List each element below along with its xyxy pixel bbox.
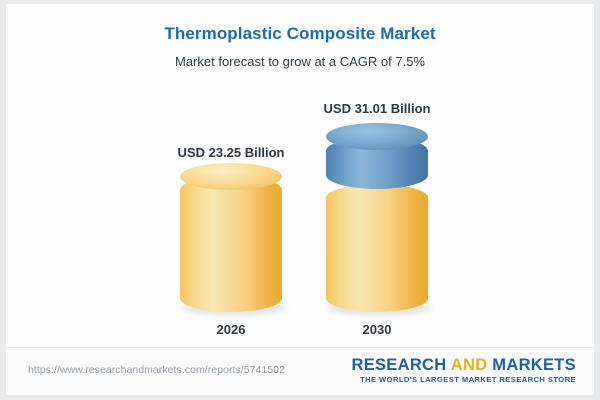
logo-wordmark: RESEARCH AND MARKETS [351, 356, 576, 375]
bar-top-ellipse-2026 [180, 163, 282, 190]
bar-top-ellipse-2030 [326, 123, 428, 150]
chart-card: Thermoplastic Composite Market Market fo… [6, 4, 594, 394]
bar-chart-plot: USD 23.25 Billion 2026 USD 31.01 Billion [6, 4, 594, 347]
bar-value-label-2030: USD 31.01 Billion [267, 101, 487, 116]
brand-logo: RESEARCH AND MARKETS THE WORLD'S LARGEST… [351, 356, 576, 385]
logo-word-and: AND [451, 356, 488, 374]
logo-word-markets: MARKETS [487, 356, 576, 374]
category-label-2030: 2030 [267, 322, 487, 337]
logo-word-research: RESEARCH [351, 356, 450, 374]
bar-value-label-2026: USD 23.25 Billion [121, 145, 341, 160]
bar-body-base-2030[interactable] [326, 184, 428, 312]
chart-body: Thermoplastic Composite Market Market fo… [6, 4, 594, 347]
bar-body-2026[interactable] [180, 176, 282, 312]
logo-tagline: THE WORLD'S LARGEST MARKET RESEARCH STOR… [351, 375, 576, 385]
footer: https://www.researchandmarkets.com/repor… [6, 347, 594, 395]
report-url[interactable]: https://www.researchandmarkets.com/repor… [28, 364, 285, 376]
chart-page: Thermoplastic Composite Market Market fo… [0, 0, 600, 400]
